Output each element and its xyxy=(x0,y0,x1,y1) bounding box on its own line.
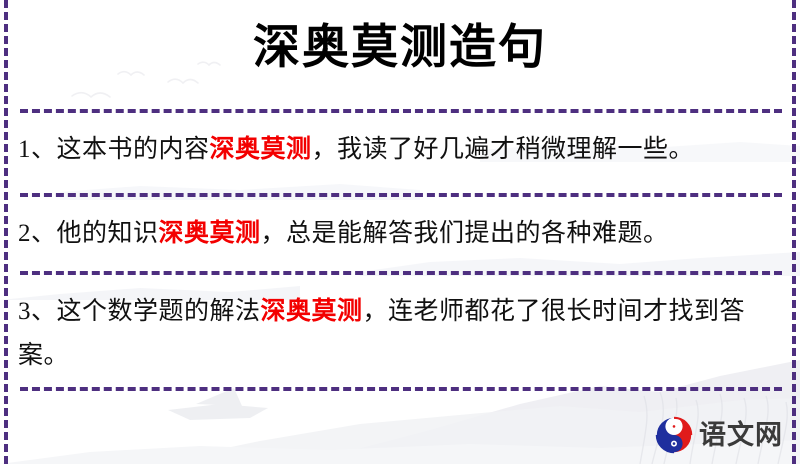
separator-above-sentence-1 xyxy=(20,109,782,113)
sentence-text-before-3: 这个数学题的解法 xyxy=(57,298,261,325)
sentence-text-after-2: ，总是能解答我们提出的各种难题。 xyxy=(261,220,669,247)
watermark-text: 语文网 xyxy=(699,422,783,449)
separator-below-sentence-3 xyxy=(20,387,782,391)
watermark-logo: 语文网 xyxy=(655,412,795,458)
sentence-number-2: 2、 xyxy=(18,220,57,247)
page-title: 深奥莫测造句 xyxy=(0,22,800,75)
sentence-text-after-1: ，我读了好几遍才稍微理解一些。 xyxy=(312,136,695,163)
separator-above-sentence-3 xyxy=(20,271,782,275)
sentence-number-1: 1、 xyxy=(18,136,57,163)
sentence-item-2: 2、他的知识深奥莫测，总是能解答我们提出的各种难题。 xyxy=(18,212,786,256)
keyword-highlight-2: 深奥莫测 xyxy=(159,220,261,247)
sentence-item-1: 1、这本书的内容深奥莫测，我读了好几遍才稍微理解一些。 xyxy=(18,128,786,172)
sentence-text-before-2: 他的知识 xyxy=(57,220,159,247)
slide-canvas: 深奥莫测造句 1、这本书的内容深奥莫测，我读了好几遍才稍微理解一些。 2、他的知… xyxy=(0,0,800,464)
keyword-highlight-3: 深奥莫测 xyxy=(261,298,363,325)
sentence-text-before-1: 这本书的内容 xyxy=(57,136,210,163)
separator-above-sentence-2 xyxy=(20,193,782,197)
sentence-number-3: 3、 xyxy=(18,298,57,325)
yin-yang-fish-icon xyxy=(655,416,693,454)
keyword-highlight-1: 深奥莫测 xyxy=(210,136,312,163)
sentence-item-3: 3、这个数学题的解法深奥莫测，连老师都花了很长时间才找到答案。 xyxy=(18,290,786,378)
